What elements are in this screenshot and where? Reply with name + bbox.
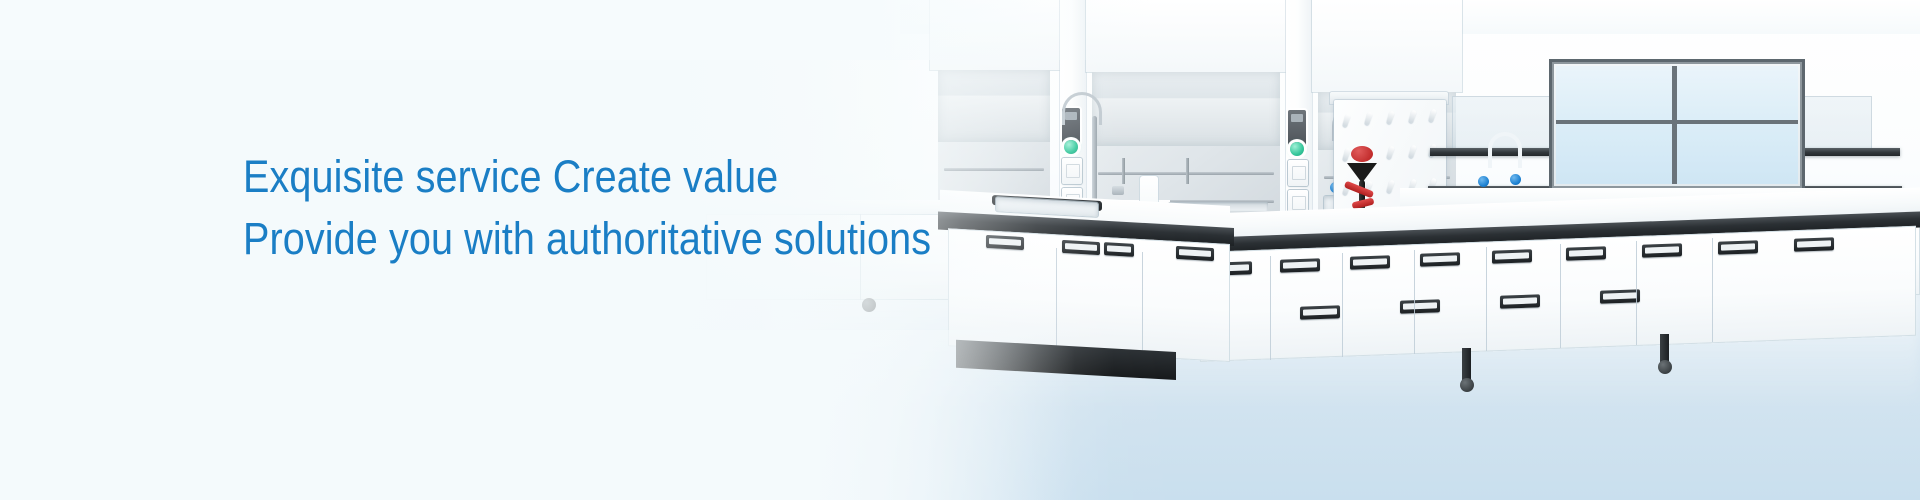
photo-fade-bottom [0, 330, 1920, 500]
headline-line-2: Provide you with authoritative solutions [243, 208, 931, 270]
hero-banner: Exquisite service Create value Provide y… [0, 0, 1920, 500]
headline-block: Exquisite service Create value Provide y… [243, 146, 1025, 270]
headline-line-1: Exquisite service Create value [243, 146, 931, 208]
photo-fade-top [0, 0, 1920, 60]
